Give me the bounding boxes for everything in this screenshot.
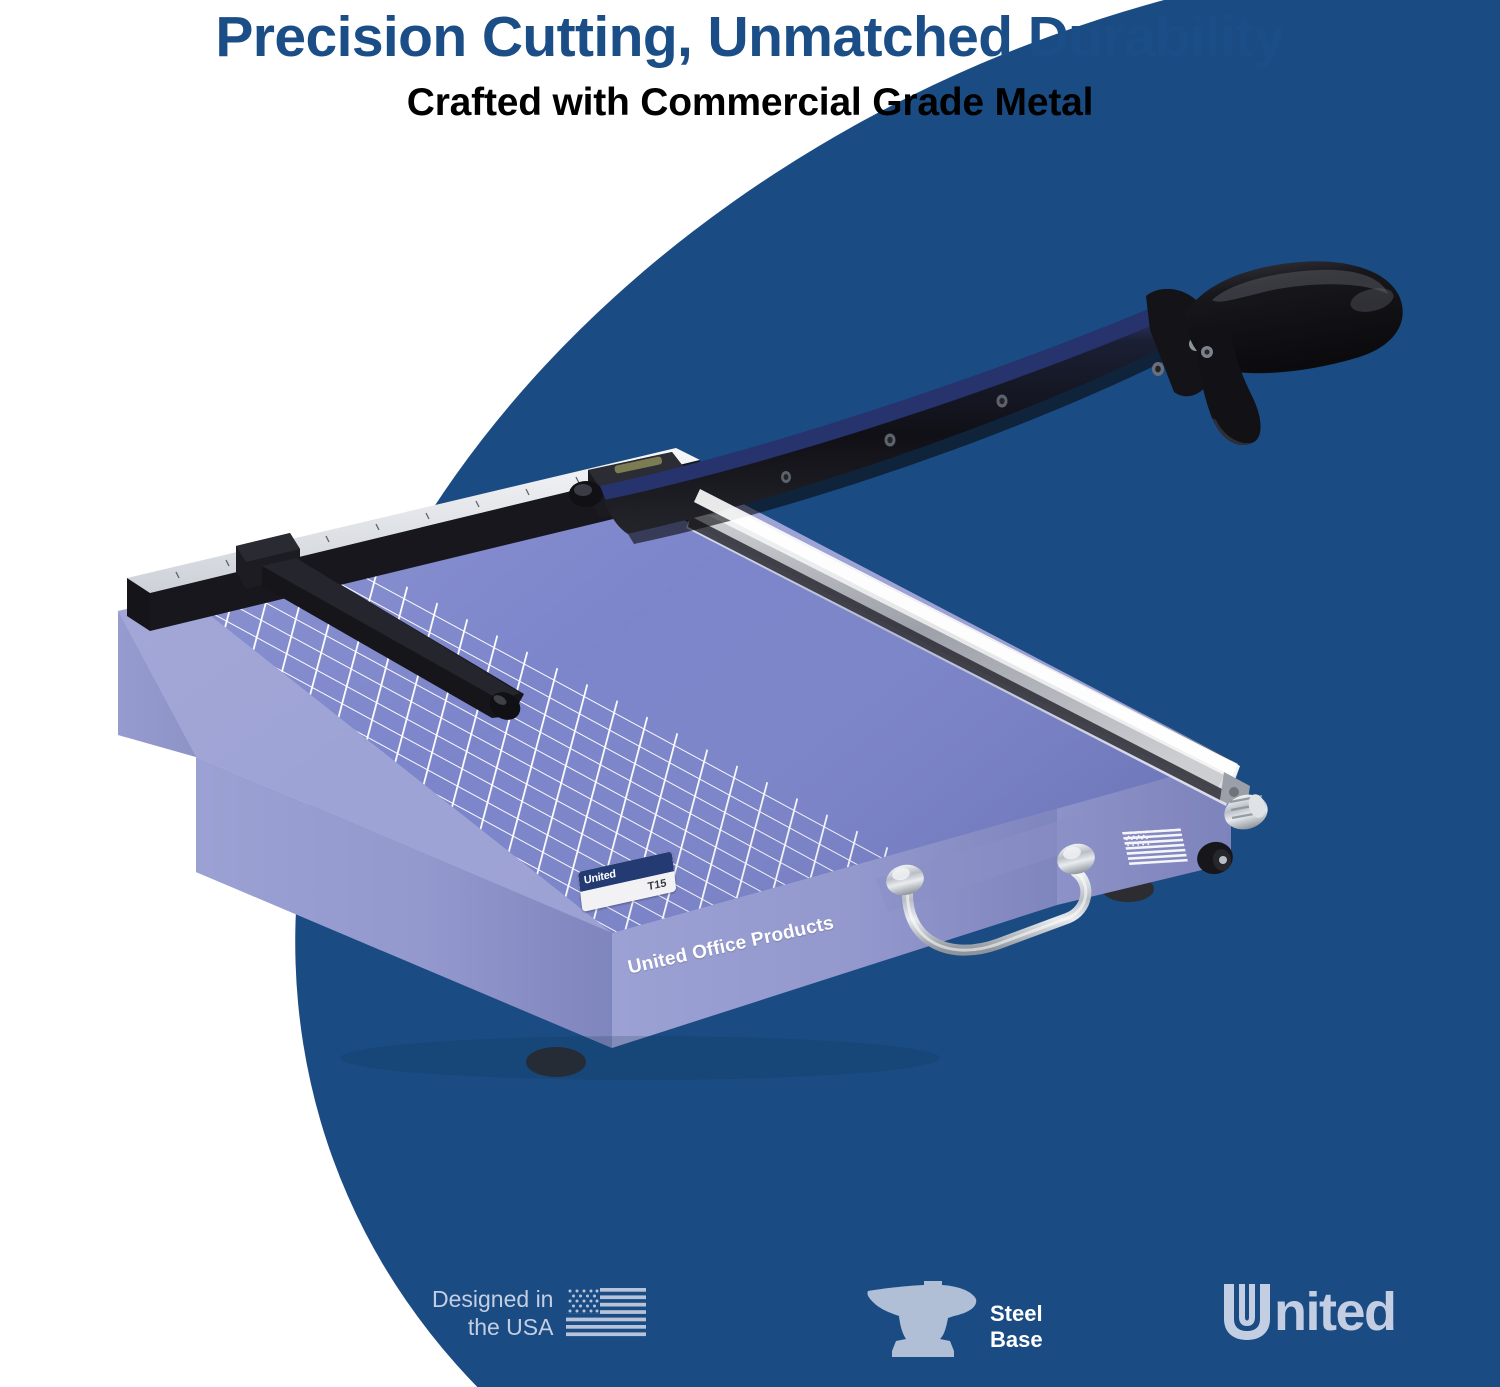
stylized-u-icon	[1219, 1281, 1277, 1343]
badge-steel-line1: Steel	[990, 1301, 1043, 1327]
badge-usa-line1: Designed in	[432, 1285, 553, 1313]
anvil-icon	[862, 1277, 982, 1361]
us-flag-icon	[566, 1288, 646, 1338]
united-logo: nited	[1219, 1281, 1396, 1343]
badge-steel-base: Steel Base	[862, 1277, 1043, 1361]
us-flag-decal-icon	[1122, 828, 1188, 865]
badge-steel-label: Steel Base	[990, 1301, 1043, 1354]
paper-trimmer-illustration	[0, 0, 1500, 1387]
cutting-arm-blade[interactable]	[600, 304, 1198, 544]
united-wordmark: nited	[1274, 1285, 1396, 1339]
badge-designed-in-usa: Designed in the USA	[432, 1285, 646, 1341]
bottom-badge-strip: Designed in the USA	[0, 1257, 1500, 1387]
badge-usa-line2: the USA	[432, 1313, 553, 1341]
ergonomic-grip-handle[interactable]	[1186, 261, 1403, 445]
marketing-image: Precision Cutting, Unmatched Durability …	[0, 0, 1500, 1387]
badge-steel-line2: Base	[990, 1327, 1043, 1353]
page-subtitle: Crafted with Commercial Grade Metal	[0, 69, 1500, 126]
page-title: Precision Cutting, Unmatched Durability	[0, 0, 1500, 69]
product-image: United T15 United Office Products	[0, 0, 1500, 1387]
badge-usa-label: Designed in the USA	[432, 1285, 553, 1341]
headline-block: Precision Cutting, Unmatched Durability …	[0, 0, 1500, 126]
label-model-text: T15	[647, 877, 667, 893]
